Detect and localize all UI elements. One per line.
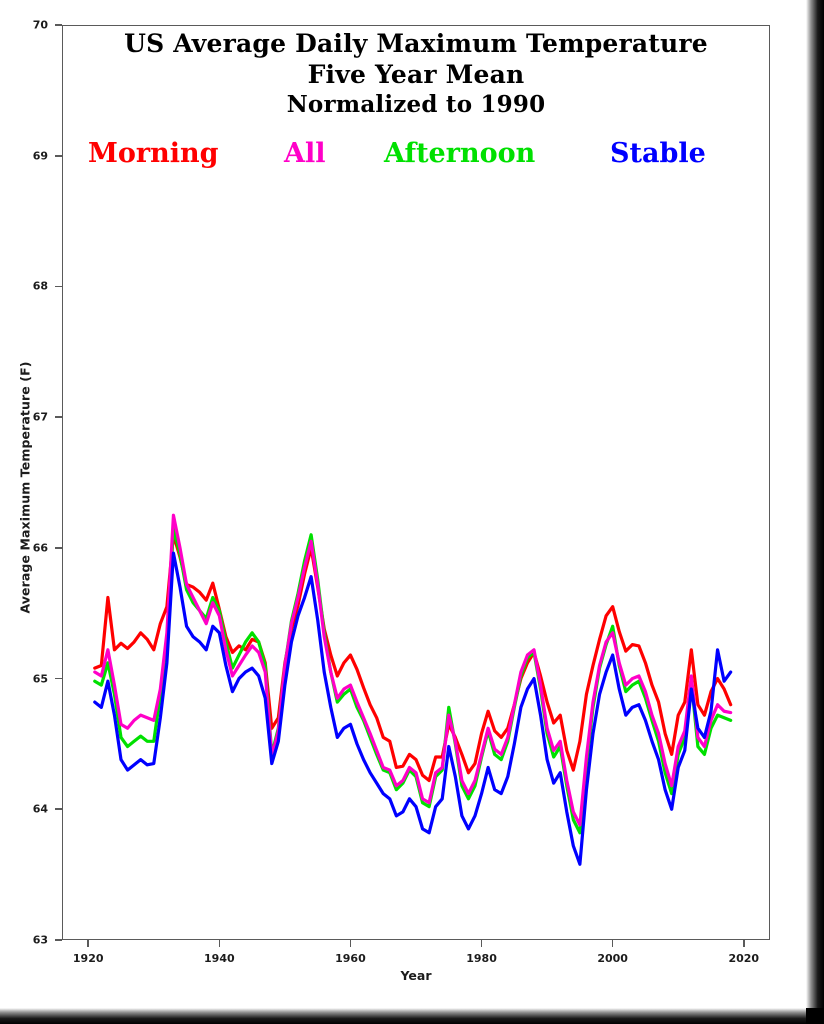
x-tick-label: 1980 [452,952,512,965]
y-tick-mark [55,678,62,680]
series-line-afternoon [95,528,731,833]
series-line-all [95,515,731,825]
x-tick-label: 2000 [583,952,643,965]
series-line-morning [95,535,731,781]
y-tick-label: 69 [8,149,48,162]
x-tick-mark [481,940,483,947]
x-tick-label: 1960 [320,952,380,965]
x-tick-label: 2020 [714,952,774,965]
figure-shadow-corner [806,1008,824,1024]
y-tick-mark [55,155,62,157]
x-tick-mark [87,940,89,947]
x-axis-label: Year [62,968,770,983]
y-tick-mark [55,286,62,288]
figure-shadow-right [806,0,824,1024]
chart-figure: US Average Daily Maximum Temperature Fiv… [0,0,824,1024]
y-tick-mark [55,808,62,810]
y-tick-label: 64 [8,803,48,816]
x-tick-label: 1940 [189,952,249,965]
y-tick-mark [55,416,62,418]
chart-lines [62,25,770,940]
x-tick-mark [612,940,614,947]
x-tick-mark [350,940,352,947]
y-tick-mark [55,547,62,549]
y-axis-label: Average Maximum Temperature (F) [18,308,33,668]
y-tick-mark [55,24,62,26]
figure-shadow-bottom [0,1008,824,1024]
y-tick-label: 70 [8,19,48,32]
x-tick-mark [743,940,745,947]
x-tick-label: 1920 [58,952,118,965]
y-tick-label: 68 [8,280,48,293]
x-tick-mark [219,940,221,947]
y-tick-label: 65 [8,672,48,685]
